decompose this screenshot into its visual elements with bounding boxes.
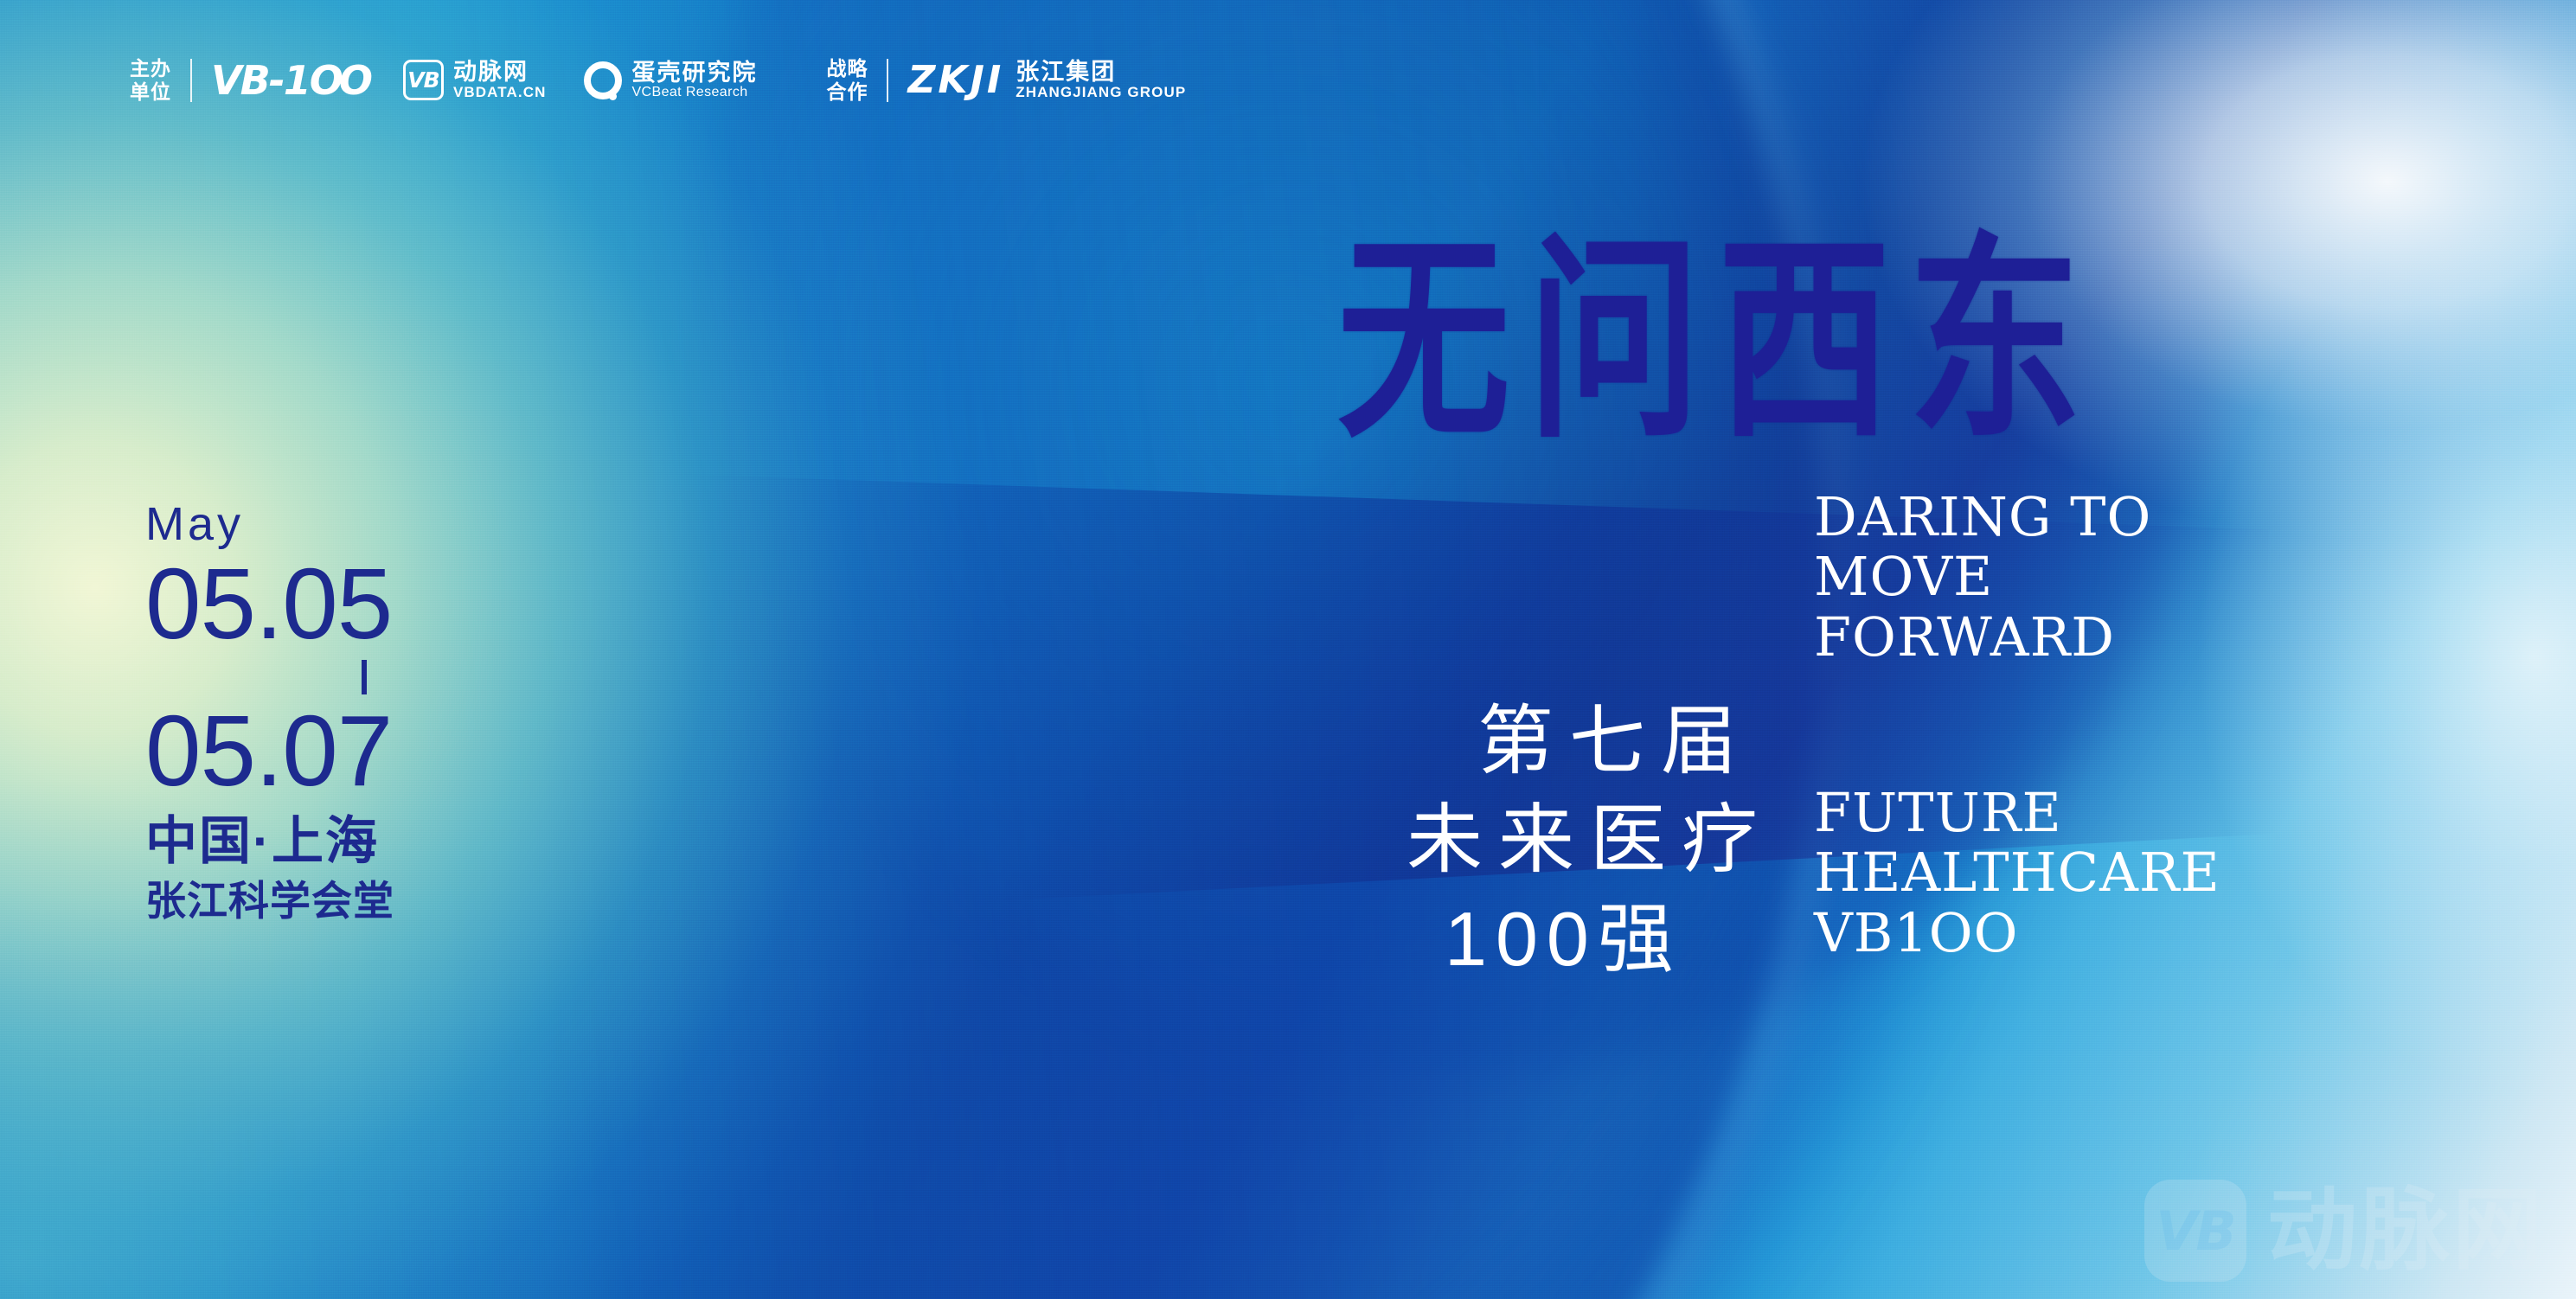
- partner-label: 战略 合作: [826, 57, 868, 103]
- page-title: 无问西东: [1337, 232, 2099, 450]
- slogan-line-2: MOVE: [1814, 547, 2151, 606]
- watermark-vb-badge-icon: VB: [2144, 1180, 2246, 1282]
- vcbeat-cn: 蛋壳研究院: [631, 61, 757, 86]
- vbdata-cn: 动脉网: [453, 60, 546, 85]
- event-city: 中国·上海: [145, 813, 394, 870]
- event-venue: 张江科学会堂: [145, 879, 394, 924]
- vb-badge-icon: VB: [403, 60, 444, 100]
- organizer-label-line2: 单位: [130, 80, 171, 104]
- vbdata-logo: VB 动脉网 VBDATA.CN: [403, 60, 546, 100]
- partner-label-line1: 战略: [826, 57, 868, 80]
- event-start-date: 05.05: [145, 553, 394, 655]
- subtitle-cn-line-2: 未来医疗: [1407, 790, 1773, 889]
- event-month: May: [145, 497, 394, 551]
- partner-label-line2: 合作: [826, 80, 868, 104]
- vcbeat-logo: 蛋壳研究院 VCBeat Research: [584, 61, 757, 100]
- subtitle-cn-line-1: 第七届: [1477, 692, 1773, 790]
- vcbeat-text: 蛋壳研究院 VCBeat Research: [631, 61, 757, 100]
- vbdata-en: VBDATA.CN: [453, 85, 546, 100]
- sponsor-logo-bar: 主办 单位 VB-1OO VB 动脉网 VBDATA.CN 蛋壳研究院 VCBe…: [130, 57, 1186, 103]
- organizer-group: 主办 单位 VB-1OO: [130, 57, 403, 103]
- zhangjiang-text: 张江集团 ZHANGJIANG GROUP: [1016, 60, 1186, 100]
- watermark-label: 动脉网: [2267, 1186, 2545, 1276]
- partner-group: 战略 合作 ZKJI 张江集团 ZHANGJIANG GROUP: [826, 57, 1186, 103]
- vb100-logo: VB-1OO: [211, 61, 368, 100]
- o-dot-icon: [584, 61, 622, 99]
- zhangjiang-en: ZHANGJIANG GROUP: [1016, 85, 1186, 100]
- event-name-line-2: HEALTHCARE: [1814, 842, 2220, 902]
- watermark: VB 动脉网: [2144, 1180, 2545, 1282]
- vb100-prefix: VB-1: [211, 57, 310, 104]
- event-poster: 主办 单位 VB-1OO VB 动脉网 VBDATA.CN 蛋壳研究院 VCBe…: [0, 0, 2576, 1299]
- zhangjiang-cn: 张江集团: [1016, 60, 1186, 85]
- vb100-infinity: OO: [310, 57, 368, 104]
- vcbeat-en: VCBeat Research: [631, 86, 757, 100]
- event-name-line-1: FUTURE: [1814, 783, 2220, 842]
- subtitle-cn-block: 第七届 未来医疗 100强: [1407, 692, 1773, 989]
- slogan-line-3: FORWARD: [1814, 607, 2151, 667]
- organizer-label-line1: 主办: [130, 57, 171, 80]
- subtitle-cn-line-3: 100强: [1445, 890, 1773, 989]
- subtitle-en-slogan: DARING TO MOVE FORWARD: [1814, 487, 2151, 667]
- date-range-dash: [362, 660, 367, 694]
- zhangjiang-monogram: ZKJI: [907, 61, 1003, 99]
- slogan-line-1: DARING TO: [1814, 487, 2151, 547]
- organizer-divider: [190, 59, 192, 102]
- date-location-block: May 05.05 05.07 中国·上海 张江科学会堂: [145, 497, 394, 923]
- organizer-label: 主办 单位: [130, 57, 171, 103]
- vbdata-text: 动脉网 VBDATA.CN: [453, 60, 546, 100]
- subtitle-en-event-name: FUTURE HEALTHCARE VB1OO: [1814, 783, 2220, 963]
- partner-divider: [887, 59, 888, 102]
- event-end-date: 05.07: [145, 700, 394, 802]
- event-name-line-3: VB1OO: [1814, 903, 2220, 963]
